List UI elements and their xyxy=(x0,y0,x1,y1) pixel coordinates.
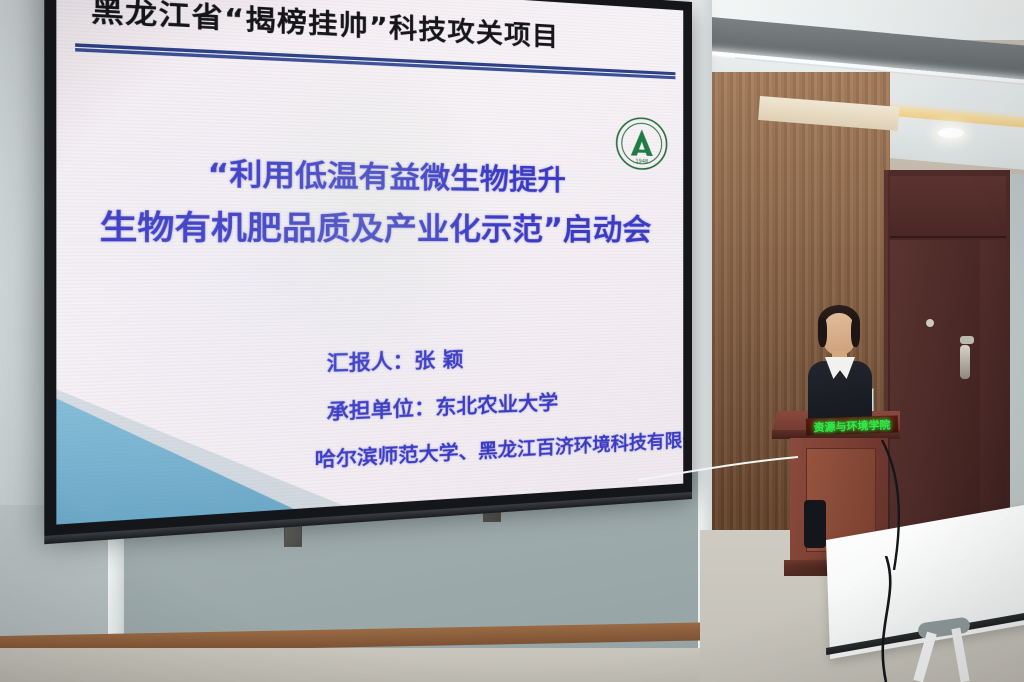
svg-text:1948: 1948 xyxy=(635,159,648,165)
university-emblem-icon: 1948 xyxy=(616,116,668,170)
door-leaf-secondary[interactable] xyxy=(980,240,1006,542)
door-transom xyxy=(890,176,1006,238)
door-lock-icon[interactable] xyxy=(960,336,974,344)
floor-cable xyxy=(860,556,990,682)
door-handle[interactable] xyxy=(960,345,970,379)
presentation-room-photo: 黑龙江省“揭榜挂帅”科技攻关项目 1948 “利用低温有益微生物提升 生物有机肥… xyxy=(0,0,1024,682)
slide-title-line-2: 生物有机肥品质及产业化示范”启动会 xyxy=(91,200,658,254)
podium-led-sign-text: 资源与环境学院 xyxy=(813,416,891,435)
projector-cable xyxy=(638,455,798,497)
door-peephole-icon xyxy=(926,319,934,327)
recessed-downlight xyxy=(938,128,964,138)
presenter-hair-right xyxy=(851,317,860,347)
podium-led-sign: 资源与环境学院 xyxy=(806,415,899,435)
slide-title-line-1: “利用低温有益微生物提升 xyxy=(91,147,658,207)
projection-screen-frame: 黑龙江省“揭榜挂帅”科技攻关项目 1948 “利用低温有益微生物提升 生物有机肥… xyxy=(44,0,692,536)
bag-behind-podium xyxy=(804,500,826,548)
presenter xyxy=(800,305,884,425)
presenter-hair-left xyxy=(818,317,827,347)
slide-body: 汇报人：张 颖 承担单位：东北农业大学 哈尔滨师范大学、黑龙江百济环境科技有限公… xyxy=(327,330,684,484)
podium-power-cable xyxy=(876,440,912,570)
slide-title: “利用低温有益微生物提升 生物有机肥品质及产业化示范”启动会 xyxy=(56,146,683,254)
projection-screen-surface: 黑龙江省“揭榜挂帅”科技攻关项目 1948 “利用低温有益微生物提升 生物有机肥… xyxy=(56,0,683,525)
